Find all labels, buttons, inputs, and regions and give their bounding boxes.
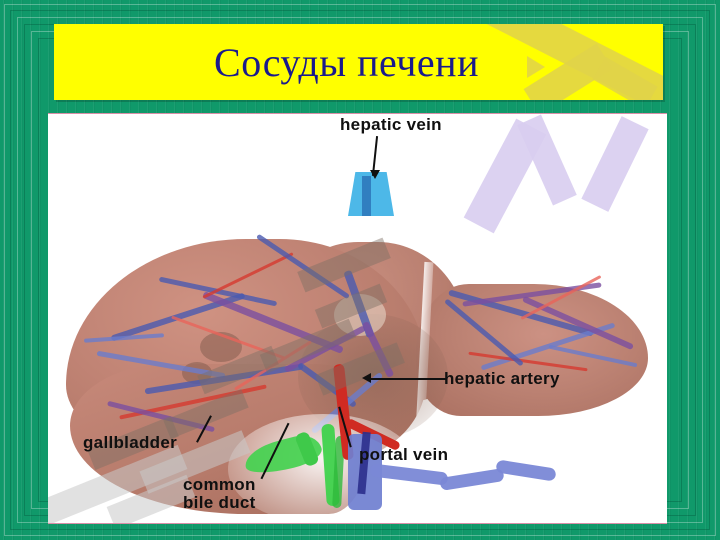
leader-arrow-hepatic-artery	[362, 373, 371, 383]
hepatic-vein-lumen	[362, 176, 371, 216]
leader-line-hepatic-artery	[370, 378, 446, 380]
label-portal-vein: portal vein	[359, 446, 448, 464]
label-common-bile-duct: common bile duct	[183, 476, 256, 513]
banner-watermark-triangle	[527, 56, 545, 78]
slide: Сосуды печени	[0, 0, 720, 540]
title-banner: Сосуды печени	[54, 24, 663, 100]
portal-vein-segment-3	[495, 459, 556, 481]
leader-arrow-hepatic-vein	[370, 170, 380, 179]
label-hepatic-vein: hepatic vein	[340, 116, 442, 134]
label-gallbladder: gallbladder	[83, 434, 177, 452]
label-hepatic-artery: hepatic artery	[444, 370, 560, 388]
liver-diagram-panel: hepatic vein hepatic artery portal vein …	[48, 113, 667, 524]
portal-vein-segment-2	[439, 468, 504, 491]
page-title: Сосуды печени	[214, 39, 479, 86]
